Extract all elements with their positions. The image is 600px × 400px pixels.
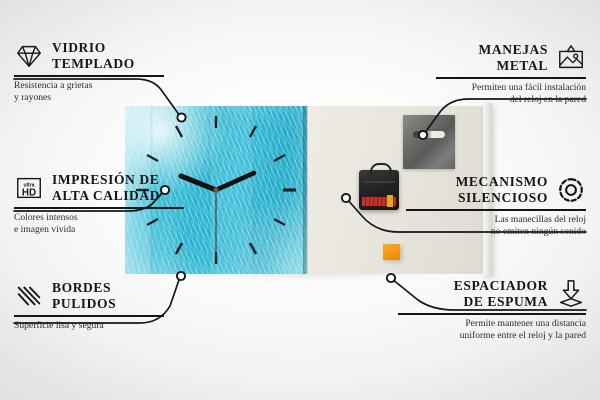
callout-subtitle-2: y rayones [14,92,164,104]
callout-header: MECANISMO SILENCIOSO [406,174,586,206]
callout-subtitle-2: no emiten ningún sonido [406,226,586,238]
callout-rule [14,75,164,77]
callout-header: BORDES PULIDOS [14,280,164,312]
foam-spacer [383,244,400,260]
infographic-canvas: VIDRIO TEMPLADO Resistencia a grietas y … [0,0,600,400]
callout-manejas-metal[interactable]: MANEJAS METAL Permiten una fácil instala… [436,42,586,107]
gear-icon [556,175,586,205]
callout-vidrio-templado[interactable]: VIDRIO TEMPLADO Resistencia a grietas y … [14,40,164,105]
callout-subtitle-1: Colores intensos [14,212,184,224]
callout-header: ESPACIADOR DE ESPUMA [398,278,586,310]
clock-movement-mechanism [359,170,399,210]
callout-title: BORDES PULIDOS [52,280,116,312]
callout-header: VIDRIO TEMPLADO [14,40,164,72]
callout-subtitle-1: Resistencia a grietas [14,80,164,92]
callout-bordes-pulidos[interactable]: BORDES PULIDOS Superficie lisa y segura [14,280,164,332]
arrow-down-pad-icon [556,279,586,309]
hour-hand [181,176,216,190]
callout-title: MANEJAS METAL [479,42,548,74]
callout-subtitle-1: Las manecillas del reloj [406,214,586,226]
hanger-slot [413,131,445,138]
ultra-hd-icon: ultra HD [14,173,44,203]
callout-rule [14,315,164,317]
picture-frame-icon [556,43,586,73]
clock-glass-edge [303,106,308,274]
callout-subtitle-1: Superficie lisa y segura [14,320,164,332]
diagonal-lines-icon [14,281,44,311]
callout-subtitle-1: Permite mantener una distancia [398,318,586,330]
callout-impresion-alta-calidad[interactable]: ultra HD IMPRESIÓN DE ALTA CALIDAD Color… [14,172,184,237]
battery-tab [387,195,393,207]
hanger-loop-icon [370,163,392,175]
diamond-icon [14,41,44,71]
callout-title: IMPRESIÓN DE ALTA CALIDAD [52,172,160,204]
minute-hand [216,173,254,190]
callout-title: VIDRIO TEMPLADO [52,40,135,72]
callout-rule [14,207,184,209]
callout-title: MECANISMO SILENCIOSO [456,174,548,206]
hands-hub [213,187,218,192]
movement-seam [363,181,395,183]
callout-subtitle-1: Permiten una fácil instalación [436,82,586,94]
callout-header: ultra HD IMPRESIÓN DE ALTA CALIDAD [14,172,184,204]
metal-hanger-plate [403,115,455,169]
callout-espaciador-espuma[interactable]: ESPACIADOR DE ESPUMA Permite mantener un… [398,278,586,343]
callout-rule [398,313,586,315]
callout-subtitle-2: uniforme entre el reloj y la pared [398,330,586,342]
callout-rule [406,209,586,211]
svg-text:HD: HD [22,188,36,199]
callout-header: MANEJAS METAL [436,42,586,74]
callout-subtitle-2: del reloj en la pared [436,94,586,106]
callout-rule [436,77,586,79]
callout-subtitle-2: e imagen vívida [14,224,184,236]
callout-mecanismo-silencioso[interactable]: MECANISMO SILENCIOSO Las manecillas del … [406,174,586,239]
callout-title: ESPACIADOR DE ESPUMA [454,278,548,310]
